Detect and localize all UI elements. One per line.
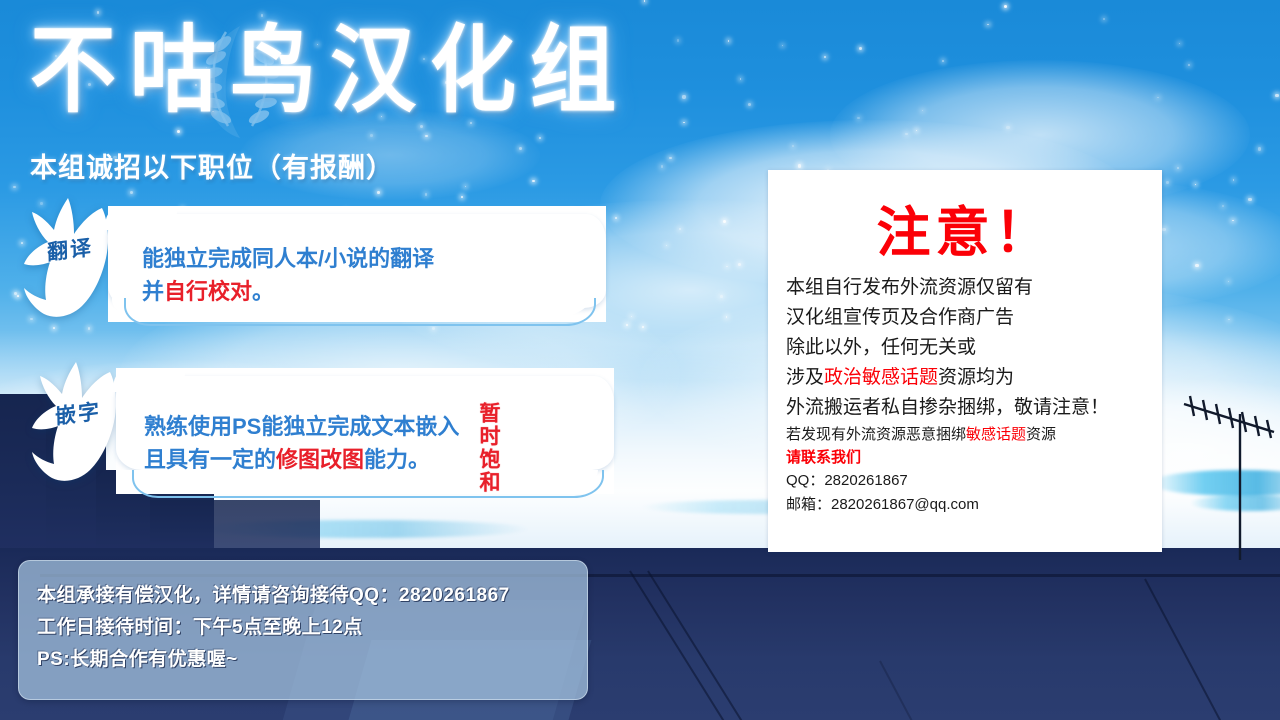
notice-line-text: 本组自行发布外流资源仅留有 <box>786 277 1033 298</box>
notice-line-text: 涉及 <box>786 367 824 388</box>
notice-line: 除此以外，任何无关或 <box>786 333 1146 363</box>
notice-card: 注意！ 本组自行发布外流资源仅留有 汉化组宣传页及合作商广告 除此以外，任何无关… <box>768 170 1162 552</box>
notice-line: 涉及政治敏感话题资源均为 <box>786 363 1146 393</box>
banner-line-2-pre: 并 <box>142 279 164 304</box>
banner-line-2-highlight: 自行校对 <box>164 279 252 304</box>
notice-small-text: 若发现有外流资源恶意捆绑 <box>786 426 966 443</box>
banner-text-translate: 能独立完成同人本/小说的翻译 并自行校对。 <box>142 242 434 308</box>
notice-small-highlight: 敏感话题 <box>966 426 1026 443</box>
banner-notch <box>112 370 185 392</box>
contact-email: 邮箱：2820261867@qq.com <box>786 493 1146 517</box>
banner-line-2-pre: 且具有一定的 <box>144 447 276 472</box>
notice-line-text: 汉化组宣传页及合作商广告 <box>786 307 1014 328</box>
notice-line: 本组自行发布外流资源仅留有 <box>786 273 1146 303</box>
notice-line-highlight: 政治敏感话题 <box>824 367 938 388</box>
building-silhouette <box>150 500 320 554</box>
contact-qq: QQ：2820261867 <box>786 469 1146 493</box>
banner-text-typeset: 熟练使用PS能独立完成文本嵌入 且具有一定的修图改图能力。 <box>144 410 459 476</box>
notice-line-text: 资源均为 <box>938 367 1014 388</box>
recruitment-banner-translate: 能独立完成同人本/小说的翻译 并自行校对。 <box>108 206 606 322</box>
banner-line-2-highlight: 修图改图 <box>276 447 364 472</box>
banner-line-1: 能独立完成同人本/小说的翻译 <box>142 246 434 271</box>
notice-line: 汉化组宣传页及合作商广告 <box>786 303 1146 333</box>
title-block: 不咕鸟汉化组 <box>30 14 750 136</box>
banner-line-2-post: 能力。 <box>364 447 430 472</box>
page-subtitle: 本组诚招以下职位（有报酬） <box>30 146 394 185</box>
bottom-panel-line-3: PS:长期合作有优惠喔~ <box>37 644 238 671</box>
notice-title: 注意！ <box>768 188 1162 267</box>
notice-body: 本组自行发布外流资源仅留有 汉化组宣传页及合作商广告 除此以外，任何无关或 涉及… <box>768 273 1162 517</box>
contact-us-label: 请联系我们 <box>786 446 1146 469</box>
notice-small-note: 若发现有外流资源恶意捆绑敏感话题资源 <box>786 423 1146 446</box>
banner-line-1: 熟练使用PS能独立完成文本嵌入 <box>144 414 459 439</box>
banner-line-2-post: 。 <box>252 279 274 304</box>
bottom-info-panel: 本组承接有偿汉化，详情请咨询接待QQ：2820261867 工作日接待时间：下午… <box>18 560 588 700</box>
bottom-panel-line-1: 本组承接有偿汉化，详情请咨询接待QQ：2820261867 <box>37 580 510 607</box>
page-title: 不咕鸟汉化组 <box>30 14 750 128</box>
notice-line: 外流搬运者私自掺杂捆绑，敬请注意！ <box>786 393 1146 423</box>
recruitment-banner-typeset: 熟练使用PS能独立完成文本嵌入 且具有一定的修图改图能力。 <box>116 368 614 494</box>
status-badge-saturated: 暂时饱和 <box>468 402 500 494</box>
tv-antenna-icon <box>1178 392 1278 560</box>
banner-notch <box>104 208 177 230</box>
notice-small-text: 资源 <box>1026 426 1056 443</box>
notice-line-text: 除此以外，任何无关或 <box>786 337 976 358</box>
notice-line-text: 外流搬运者私自掺杂捆绑，敬请注意！ <box>786 397 1109 418</box>
bottom-panel-line-2: 工作日接待时间：下午5点至晚上12点 <box>37 612 363 639</box>
promo-poster: 不咕鸟汉化组 本组诚招以下职位（有报酬） 翻译 能独立完成同人本/小说的翻译 并… <box>0 0 1280 720</box>
